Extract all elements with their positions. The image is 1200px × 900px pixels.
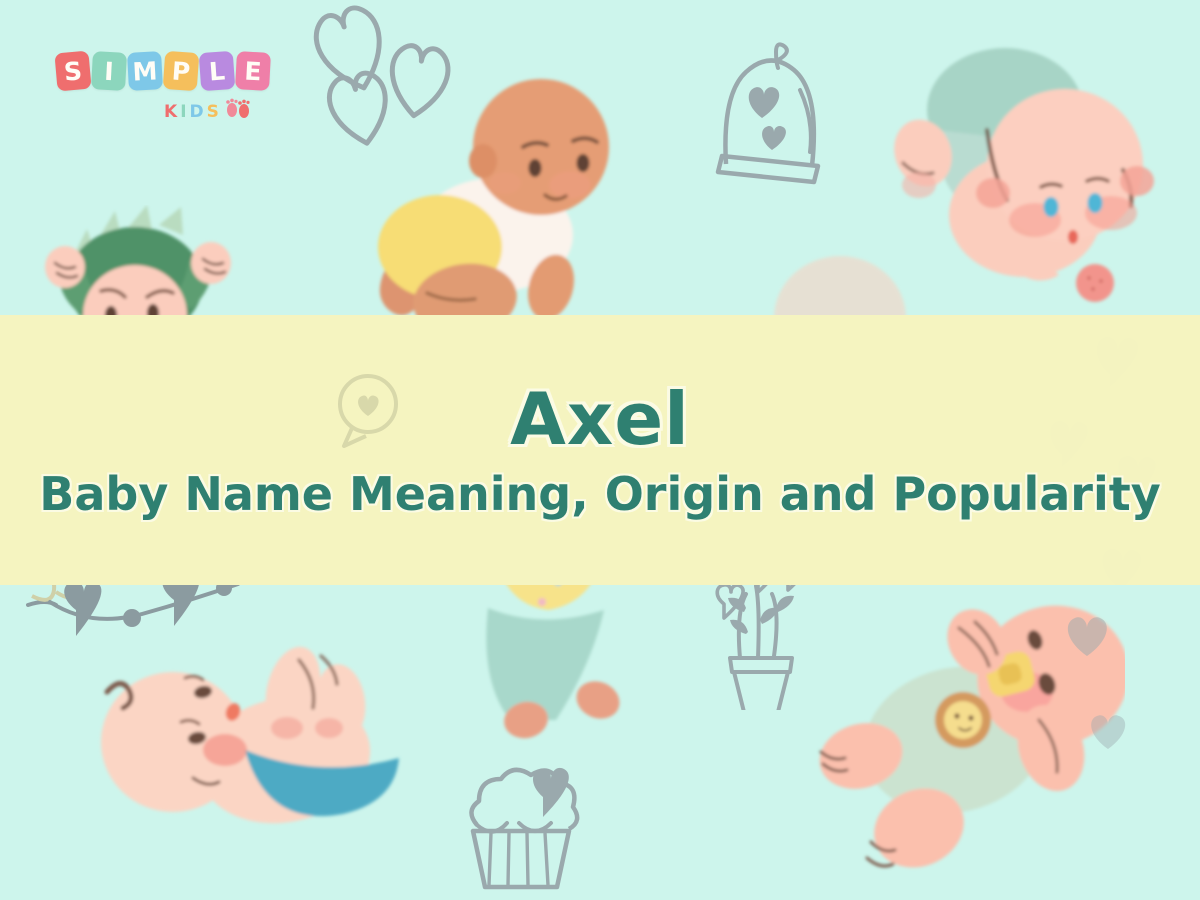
- reclining-baby-blue-shorts: [85, 630, 405, 890]
- page-title: Axel: [510, 383, 690, 455]
- baby-footprints-icon: [224, 98, 252, 125]
- page-subtitle: Baby Name Meaning, Origin and Popularity: [39, 471, 1160, 517]
- cupcake-with-heart-icon: [455, 765, 595, 895]
- solid-heart-icon: [1055, 600, 1119, 664]
- outline-heart-icon: [378, 30, 460, 125]
- logo-kids-letter: K: [164, 102, 180, 122]
- logo-tile-m: M: [127, 51, 163, 91]
- logo-tile-s: S: [54, 51, 91, 92]
- logo-kids-letter: S: [207, 102, 222, 122]
- baby-name-card: Axel Baby Name Meaning, Origin and Popul…: [0, 0, 1200, 900]
- speech-bubble-heart-icon: [330, 370, 410, 450]
- logo-tile-letter: I: [104, 56, 115, 85]
- logo-tile-e: E: [235, 51, 271, 91]
- logo-tile-letter: S: [63, 56, 83, 86]
- logo-kids-word: K I D S: [164, 98, 252, 125]
- logo-tile-letter: L: [208, 56, 226, 86]
- logo-tile-letter: P: [171, 56, 191, 86]
- potted-heart-plant-icon: [700, 580, 820, 710]
- birdcage-with-hearts-icon: [700, 40, 840, 190]
- logo-tile-p: P: [163, 51, 200, 91]
- logo-tile-letter: E: [244, 56, 263, 86]
- site-logo[interactable]: S I M P L E K I D S: [56, 52, 276, 147]
- logo-kids-letter: D: [190, 102, 207, 122]
- logo-tile-i: I: [91, 51, 127, 91]
- logo-tiles: S I M P L E: [56, 52, 272, 90]
- solid-heart-icon: [1080, 700, 1136, 756]
- logo-kids-letter: I: [180, 102, 189, 122]
- title-banner: Axel Baby Name Meaning, Origin and Popul…: [0, 315, 1200, 585]
- logo-tile-l: L: [199, 51, 236, 91]
- logo-tile-letter: M: [132, 56, 158, 86]
